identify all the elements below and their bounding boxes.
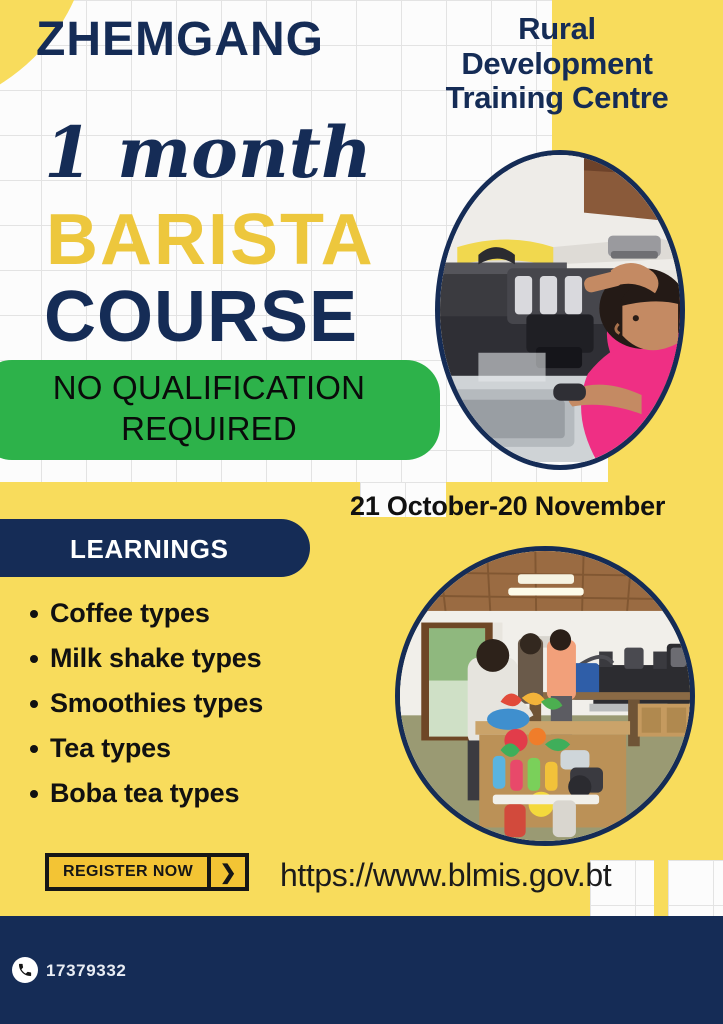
learnings-list: Coffee types Milk shake types Smoothies … [22, 600, 263, 825]
organisation-name: Rural Development Training Centre [396, 12, 718, 116]
list-item: Tea types [50, 735, 263, 762]
register-now-button[interactable]: REGISTER NOW ❯ [45, 853, 249, 891]
badge-line-1: NO QUALIFICATION [0, 368, 430, 409]
grid-notch-bottom-right [668, 860, 723, 916]
chevron-right-icon: ❯ [207, 857, 245, 887]
learnings-heading: LEARNINGS [70, 534, 229, 565]
phone-icon [12, 957, 38, 983]
poster-canvas: ZHEMGANG Rural Development Training Cent… [0, 0, 723, 1024]
list-item: Coffee types [50, 600, 263, 627]
organisation-line-1: Rural [396, 12, 718, 47]
organisation-line-3: Training Centre [396, 81, 718, 116]
course-duration: 1 month [44, 118, 372, 188]
training-kitchen-photo [395, 546, 695, 846]
list-item: Milk shake types [50, 645, 263, 672]
register-now-label: REGISTER NOW [49, 857, 207, 887]
list-item: Smoothies types [50, 690, 263, 717]
course-date-range: 21 October-20 November [350, 491, 665, 522]
organisation-line-2: Development [396, 47, 718, 82]
no-qualification-badge: NO QUALIFICATION REQUIRED [0, 360, 440, 460]
barista-espresso-machine-photo [435, 150, 685, 470]
training-kitchen-illustration [400, 551, 690, 841]
badge-line-2: REQUIRED [0, 409, 430, 450]
list-item: Boba tea types [50, 780, 263, 807]
phone-number: 17379332 [46, 961, 126, 981]
registration-url[interactable]: https://www.blmis.gov.bt [280, 857, 611, 894]
location-title: ZHEMGANG [36, 16, 324, 64]
course-kind: COURSE [44, 281, 358, 353]
barista-espresso-machine-illustration [440, 155, 680, 462]
course-subject: BARISTA [46, 204, 375, 276]
